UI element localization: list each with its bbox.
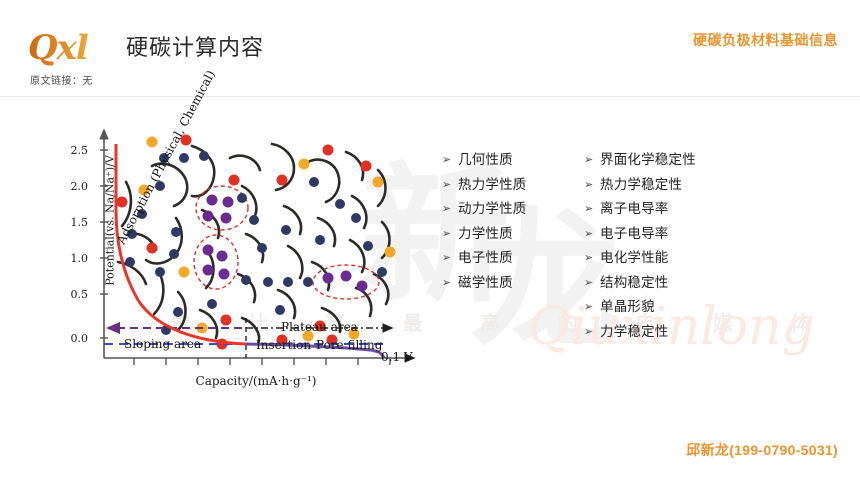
list-item-label: 动力学性质 (458, 197, 527, 222)
bullet-arrow-icon: ➢ (584, 222, 600, 247)
list-item[interactable]: ➢ 几何性质 (442, 148, 527, 173)
annotation-insertion: Insertion (256, 338, 311, 352)
y-tick-0.0: 0.0 (62, 332, 88, 345)
bullet-arrow-icon: ➢ (442, 173, 458, 198)
list-item[interactable]: ➢ 离子电导率 (584, 197, 696, 222)
page-title: 硬碳计算内容 (126, 30, 264, 62)
bullet-arrow-icon: ➢ (442, 148, 458, 173)
list-item-label: 电化学性能 (600, 246, 669, 271)
list-item[interactable]: ➢ 单晶形貌 (584, 295, 696, 320)
annotation-plateau-area: Plateau area (281, 320, 358, 334)
list-item-label: 电子性质 (458, 246, 513, 271)
bullet-arrow-icon: ➢ (584, 320, 600, 345)
bullet-arrow-icon: ➢ (442, 197, 458, 222)
bullet-arrow-icon: ➢ (442, 246, 458, 271)
list-item-label: 单晶形貌 (600, 295, 655, 320)
list-item-label: 热力学性质 (458, 173, 527, 198)
bullet-arrow-icon: ➢ (584, 246, 600, 271)
list-item[interactable]: ➢ 电化学性能 (584, 246, 696, 271)
bullet-arrow-icon: ➢ (584, 295, 600, 320)
list-item-label: 结构稳定性 (600, 271, 669, 296)
properties-column-right: ➢ 界面化学稳定性 ➢ 热力学稳定性 ➢ 离子电导率 ➢ 电子电导率 ➢ 电化学… (584, 148, 696, 344)
list-item[interactable]: ➢ 动力学性质 (442, 197, 527, 222)
bullet-arrow-icon: ➢ (584, 148, 600, 173)
author-contact: 邱新龙(199-0790-5031) (686, 440, 838, 460)
header-section-label: 硬碳负极材料基础信息 (693, 30, 838, 50)
y-tick-1.0: 1.0 (62, 252, 88, 265)
bullet-arrow-icon: ➢ (584, 173, 600, 198)
bullet-arrow-icon: ➢ (442, 222, 458, 247)
list-item-label: 电子电导率 (600, 222, 669, 247)
y-tick-2.5: 2.5 (62, 144, 88, 157)
source-link-label: 原文链接：无 (30, 72, 93, 87)
list-item[interactable]: ➢ 热力学稳定性 (584, 173, 696, 198)
list-item[interactable]: ➢ 结构稳定性 (584, 271, 696, 296)
list-item[interactable]: ➢ 电子性质 (442, 246, 527, 271)
hard-carbon-figure: Potential(vs. Na/Na⁺)/V 2.5 2.0 1.5 1.0 … (56, 122, 446, 402)
list-item-label: 力学性质 (458, 222, 513, 247)
list-item-label: 几何性质 (458, 148, 513, 173)
bullet-arrow-icon: ➢ (442, 271, 458, 296)
list-item-label: 力学稳定性 (600, 320, 669, 345)
bullet-arrow-icon: ➢ (584, 271, 600, 296)
properties-column-left: ➢ 几何性质 ➢ 热力学性质 ➢ 动力学性质 ➢ 力学性质 ➢ 电子性质 ➢ 磁… (442, 148, 527, 295)
list-item-label: 离子电导率 (600, 197, 669, 222)
list-item[interactable]: ➢ 力学性质 (442, 222, 527, 247)
list-item[interactable]: ➢ 界面化学稳定性 (584, 148, 696, 173)
list-item[interactable]: ➢ 电子电导率 (584, 222, 696, 247)
x-axis-label: Capacity/(mA·h·g⁻¹) (136, 374, 376, 388)
brand-logo: Qxl (28, 26, 120, 70)
list-item-label: 磁学性质 (458, 271, 513, 296)
list-item[interactable]: ➢ 力学稳定性 (584, 320, 696, 345)
bullet-arrow-icon: ➢ (584, 197, 600, 222)
y-tick-0.5: 0.5 (62, 288, 88, 301)
list-item-label: 界面化学稳定性 (600, 148, 696, 173)
annotation-pore-filling: Pore filling (316, 338, 382, 352)
list-item[interactable]: ➢ 热力学性质 (442, 173, 527, 198)
y-tick-2.0: 2.0 (62, 180, 88, 193)
header-divider (0, 96, 860, 97)
slide-root: 新 龙 做 计 算 最 高 的 自 媒 体 Qiuxinlong Qxl 原文链… (0, 0, 860, 484)
list-item[interactable]: ➢ 磁学性质 (442, 271, 527, 296)
annotation-sloping-area: Sloping area (124, 337, 201, 351)
y-tick-1.5: 1.5 (62, 216, 88, 229)
annotation-voltage-0.1v: 0.1 V (381, 350, 413, 364)
y-axis-label: Potential(vs. Na/Na⁺)/V (104, 131, 117, 311)
list-item-label: 热力学稳定性 (600, 173, 682, 198)
